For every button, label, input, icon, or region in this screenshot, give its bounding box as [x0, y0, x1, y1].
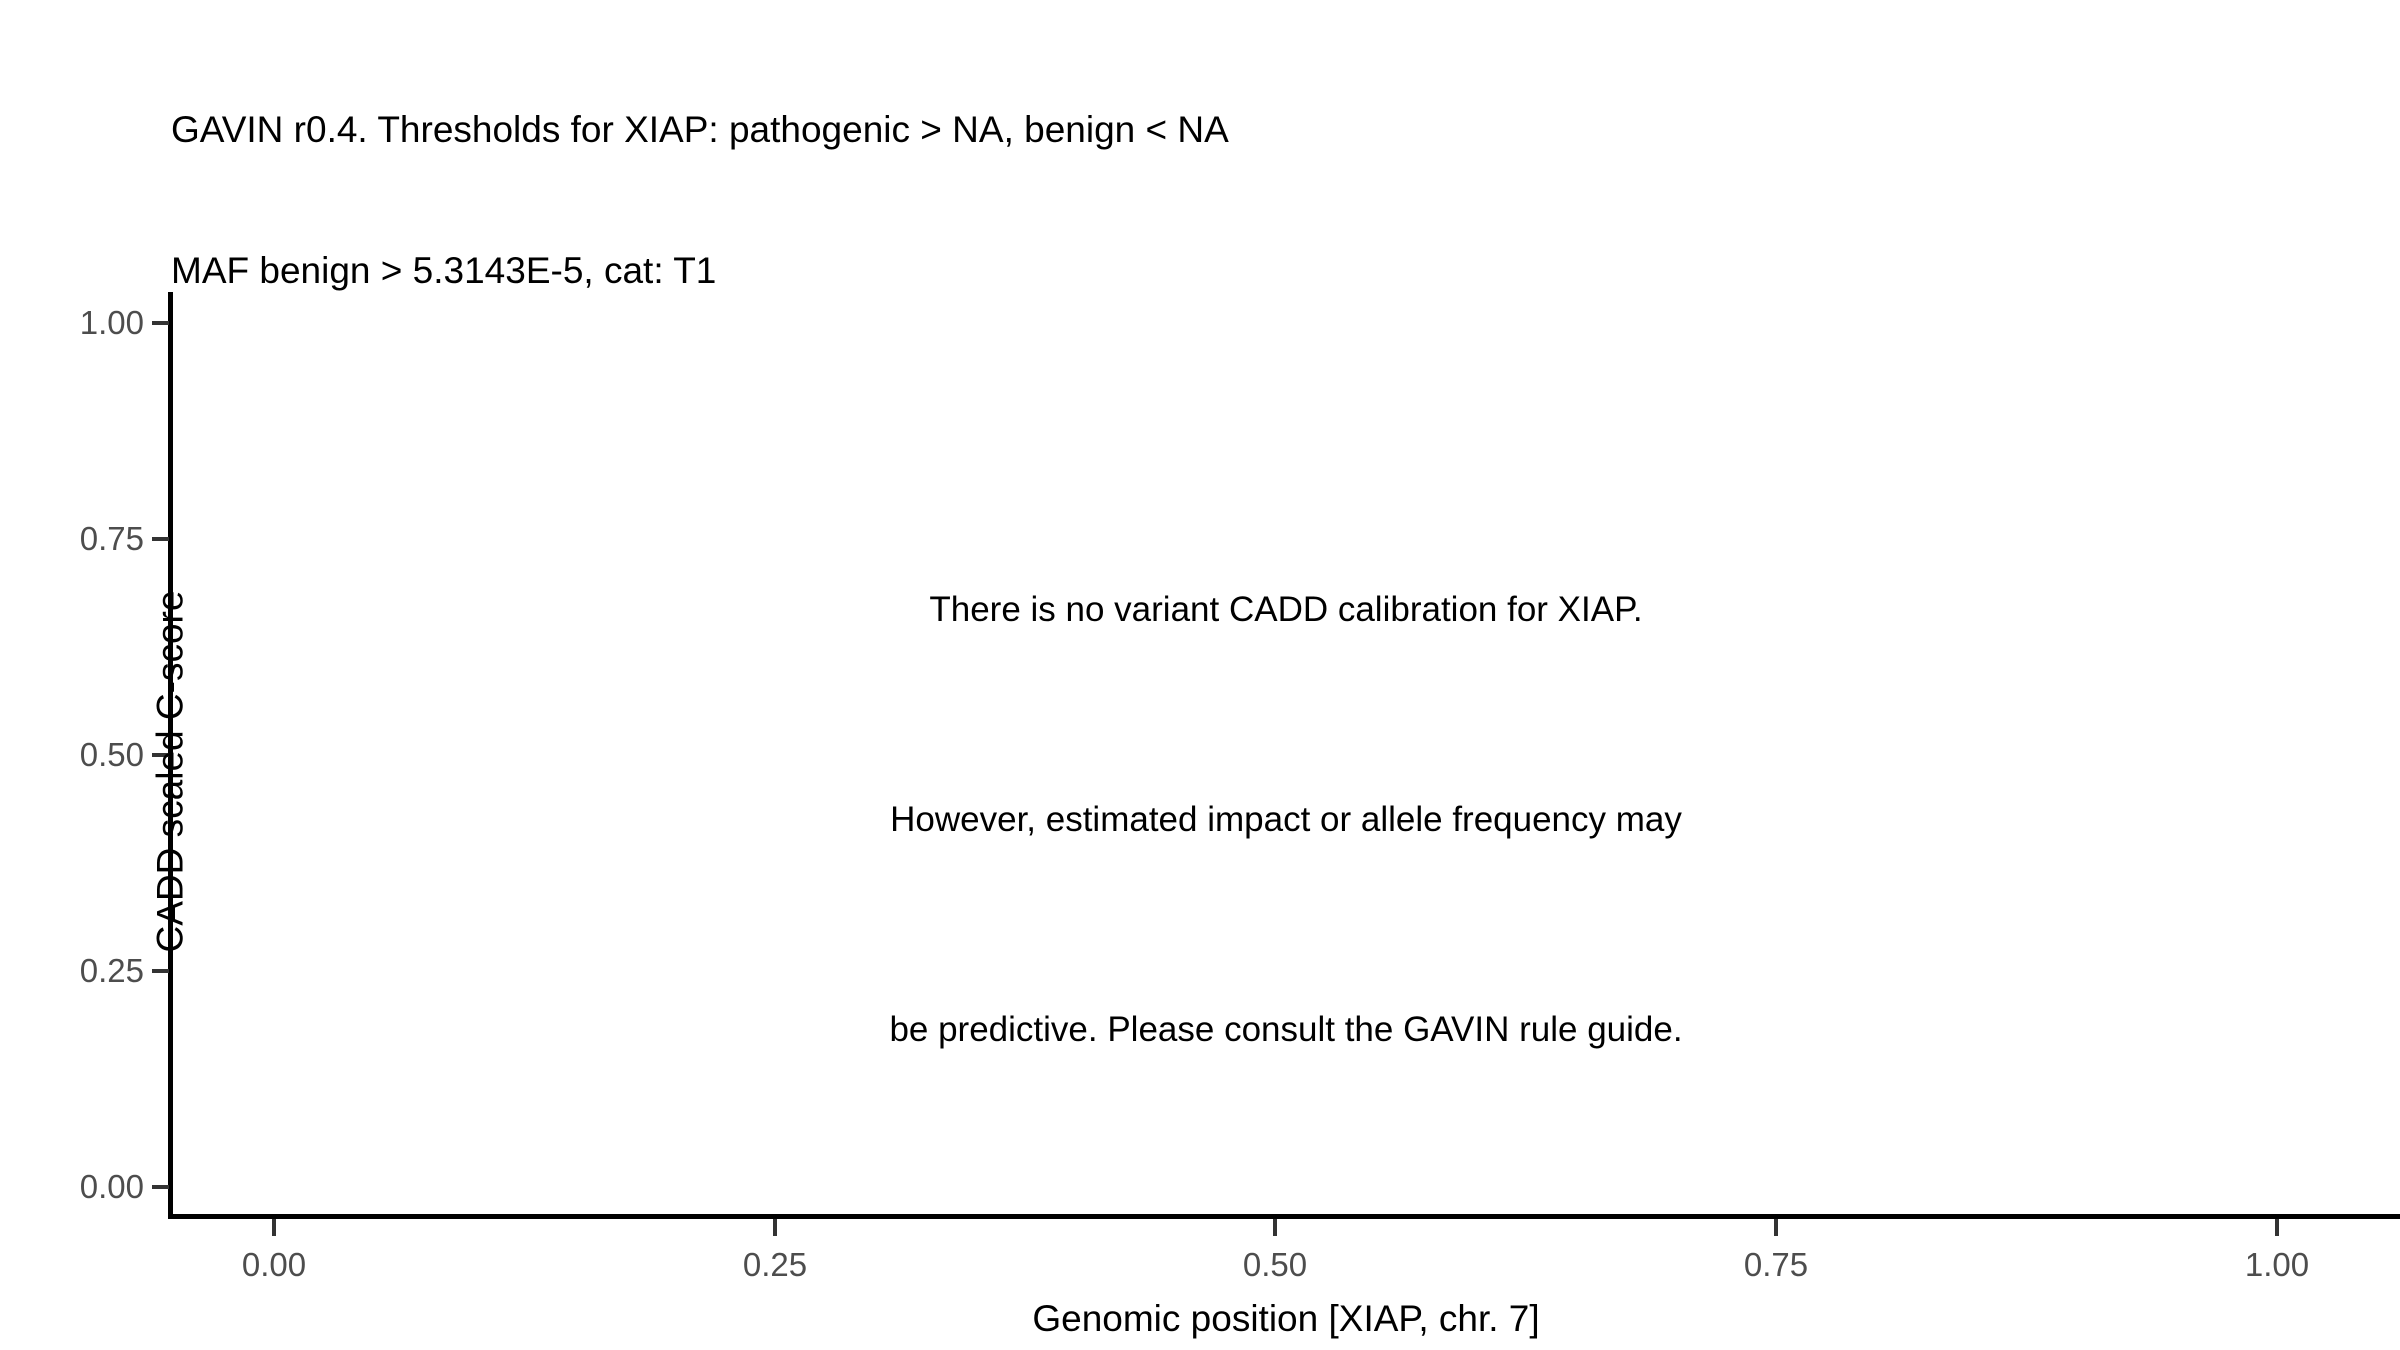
y-axis-tick-label: 0.75 — [0, 522, 144, 555]
x-axis-tick-label: 0.25 — [675, 1248, 875, 1281]
x-axis-tick-label: 1.00 — [2177, 1248, 2377, 1281]
plot-title-line-2: MAF benign > 5.3143E-5, cat: T1 — [171, 247, 2171, 294]
annotation-line-1: There is no variant CADD calibration for… — [172, 575, 2400, 645]
y-axis-tick-label: 0.25 — [0, 954, 144, 987]
y-axis-tick-label: 0.00 — [0, 1170, 144, 1203]
y-axis-tick-label: 0.50 — [0, 738, 144, 771]
y-axis-title: CADD scaled C-score — [152, 302, 189, 1242]
annotation-line-3: be predictive. Please consult the GAVIN … — [172, 995, 2400, 1065]
x-axis-tick-label: 0.75 — [1676, 1248, 1876, 1281]
y-axis-tick-label: 1.00 — [0, 306, 144, 339]
plot-panel: There is no variant CADD calibration for… — [172, 292, 2400, 1215]
x-axis-tick-mark — [2275, 1219, 2279, 1236]
x-axis-tick-mark — [272, 1219, 276, 1236]
empty-state-annotation: There is no variant CADD calibration for… — [172, 435, 2400, 1205]
x-axis-tick-mark — [773, 1219, 777, 1236]
x-axis-title: Genomic position [XIAP, chr. 7] — [172, 1300, 2400, 1337]
x-axis-tick-label: 0.00 — [174, 1248, 374, 1281]
x-axis-line — [168, 1214, 2400, 1219]
x-axis-tick-mark — [1273, 1219, 1277, 1236]
annotation-line-2: However, estimated impact or allele freq… — [172, 785, 2400, 855]
plot-title-line-1: GAVIN r0.4. Thresholds for XIAP: pathoge… — [171, 106, 2171, 153]
x-axis-tick-mark — [1774, 1219, 1778, 1236]
x-axis-tick-label: 0.50 — [1175, 1248, 1375, 1281]
